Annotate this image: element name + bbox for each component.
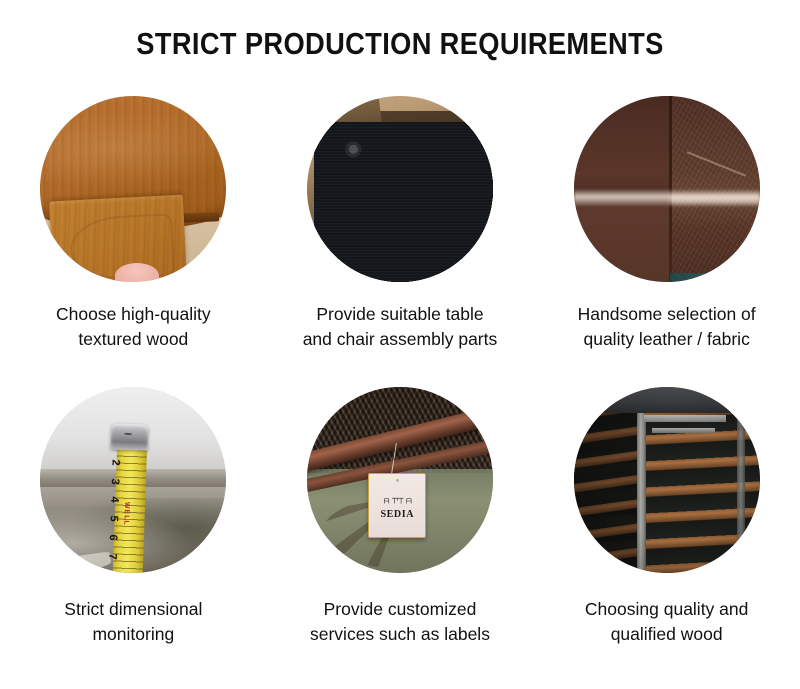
requirement-caption: Strict dimensional monitoring <box>8 597 258 647</box>
caption-line-1: Strict dimensional <box>8 597 258 622</box>
requirement-card-qualified-wood: Choosing quality and qualified wood <box>533 387 800 678</box>
leather-highlight-band-secondary <box>670 193 759 206</box>
caption-line-1: Provide suitable table <box>275 302 525 327</box>
tape-number-6: 6 <box>107 535 119 542</box>
requirement-caption: Choose high-quality textured wood <box>8 302 258 352</box>
wood-samples-photo <box>40 96 226 282</box>
requirement-card-leather-fabric: Handsome selection of quality leather / … <box>533 96 800 387</box>
requirement-caption: Choosing quality and qualified wood <box>542 597 792 647</box>
requirement-card-wood-selection: Choose high-quality textured wood <box>0 96 267 387</box>
hangtag-hole <box>396 479 399 482</box>
requirement-caption: Provide customized services such as labe… <box>275 597 525 647</box>
caption-line-1: Choosing quality and <box>542 597 792 622</box>
measuring-tape-blade: 1 2 3 4 5 6 7 WELL <box>112 435 147 573</box>
caption-line-2: services such as labels <box>275 622 525 647</box>
caption-line-2: monitoring <box>8 622 258 647</box>
caption-line-2: qualified wood <box>542 622 792 647</box>
requirements-grid: Choose high-quality textured wood Provid… <box>0 96 800 678</box>
caption-line-1: Choose high-quality <box>8 302 258 327</box>
caption-line-1: Provide customized <box>275 597 525 622</box>
page-title: STRICT PRODUCTION REQUIREMENTS <box>48 26 752 62</box>
photo-vignette <box>574 387 760 573</box>
table-and-chairs-icon <box>381 495 414 507</box>
product-requirements-page: STRICT PRODUCTION REQUIREMENTS Choose hi… <box>0 0 800 689</box>
sedia-hangtag-photo: SEDIA <box>307 387 493 573</box>
floor-mat <box>43 551 111 573</box>
requirement-card-assembly-parts: Provide suitable table and chair assembl… <box>267 96 534 387</box>
requirement-caption: Handsome selection of quality leather / … <box>542 302 792 352</box>
tape-number-2: 2 <box>110 459 122 466</box>
tape-measure-photo: 1 2 3 4 5 6 7 WELL <box>40 387 226 573</box>
requirement-card-custom-labels: SEDIA Provide customized services such a… <box>267 387 534 678</box>
caption-line-2: and chair assembly parts <box>275 327 525 352</box>
brown-leather-photo <box>574 96 760 282</box>
hangtag-brand-text: SEDIA <box>380 509 414 520</box>
hand-finger <box>115 263 160 282</box>
tape-number-3: 3 <box>109 478 121 485</box>
requirement-card-dimensional-check: 1 2 3 4 5 6 7 WELL Strict dimensional mo… <box>0 387 267 678</box>
plastic-ferrules-photo <box>307 96 493 282</box>
drying-rack-photo <box>574 387 760 573</box>
tape-brand-text: WELL <box>123 502 131 526</box>
caption-line-1: Handsome selection of <box>542 302 792 327</box>
tape-measure-hook <box>111 424 149 451</box>
requirement-caption: Provide suitable table and chair assembl… <box>275 302 525 352</box>
tape-number-7: 7 <box>106 554 118 561</box>
caption-line-2: textured wood <box>8 327 258 352</box>
caption-line-2: quality leather / fabric <box>542 327 792 352</box>
black-plastic-parts <box>314 122 493 282</box>
tape-number-5: 5 <box>108 516 120 523</box>
sedia-hang-tag: SEDIA <box>368 473 426 538</box>
leather-backing-edge <box>670 273 748 282</box>
